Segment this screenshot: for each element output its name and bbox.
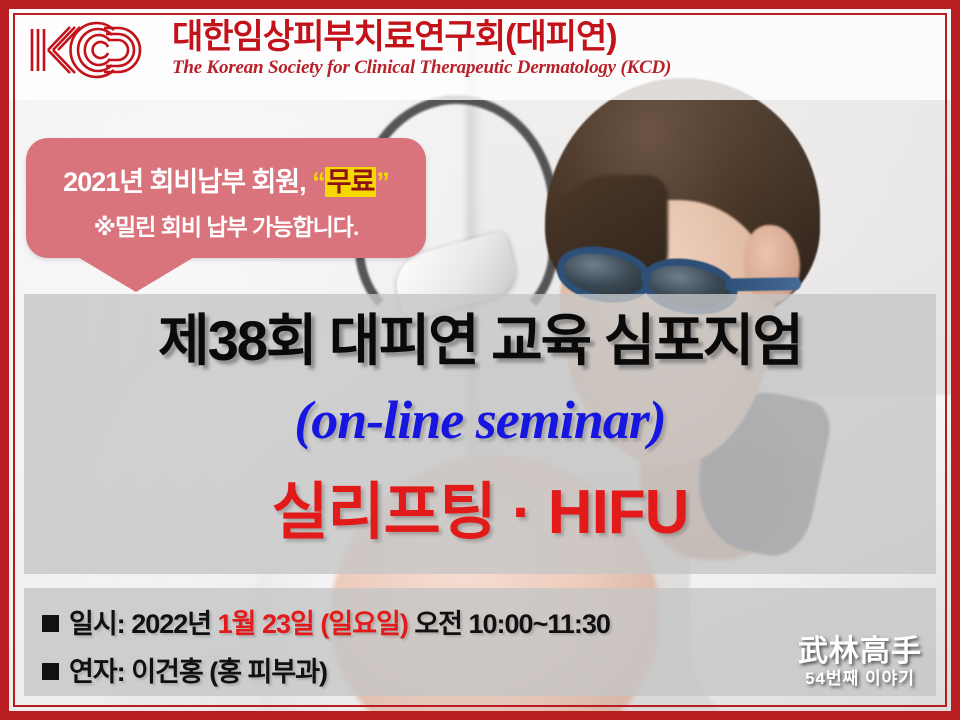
watermark-subtitle: 54번째 이야기 (798, 670, 922, 688)
fee-badge-tail (76, 256, 196, 292)
fee-quote-open: “ (312, 167, 325, 197)
info-datetime-label: 일시: (69, 609, 131, 639)
fee-notice-badge: 2021년 회비납부 회원, “무료” ※밀린 회비 납부 가능합니다. (26, 138, 426, 258)
bullet-square-icon (42, 663, 59, 680)
info-datetime-time: 오전 10:00~11:30 (408, 609, 610, 639)
subtitle-online-seminar: (on-line seminar) (0, 392, 960, 449)
fee-notice-prefix: 2021년 회비납부 회원, (63, 167, 312, 197)
organization-name-korean: 대한임상피부치료연구회(대피연) (172, 20, 671, 56)
fee-notice-line-2: ※밀린 회비 납부 가능합니다. (26, 208, 426, 242)
fee-notice-line-1: 2021년 회비납부 회원, “무료” (26, 160, 426, 199)
info-speaker-value: 이건홍 (홍 피부과) (131, 657, 327, 687)
poster-header: 대한임상피부치료연구회(대피연) The Korean Society for … (26, 20, 671, 79)
seminar-poster: 대한임상피부치료연구회(대피연) The Korean Society for … (0, 0, 960, 720)
fee-quote-close: ” (376, 167, 389, 197)
topic-title: 실리프팅 · HIFU (0, 480, 960, 545)
info-speaker-label: 연자: (69, 657, 131, 687)
info-datetime-year: 2022년 (131, 609, 217, 639)
watermark-title: 武林高手 (798, 636, 922, 668)
kcd-logo-icon (26, 21, 158, 79)
fee-free-highlight: 무료 (325, 167, 377, 197)
info-datetime: 일시: 2022년 1월 23일 (일요일) 오전 10:00~11:30 (42, 602, 610, 641)
info-speaker: 연자: 이건홍 (홍 피부과) (42, 650, 327, 689)
series-watermark: 武林高手 54번째 이야기 (798, 636, 922, 687)
organization-name-english: The Korean Society for Clinical Therapeu… (172, 57, 671, 80)
page-title: 제38회 대피연 교육 심포지엄 (0, 312, 960, 371)
bullet-square-icon (42, 615, 59, 632)
info-datetime-highlight: 1월 23일 (일요일) (218, 609, 408, 639)
